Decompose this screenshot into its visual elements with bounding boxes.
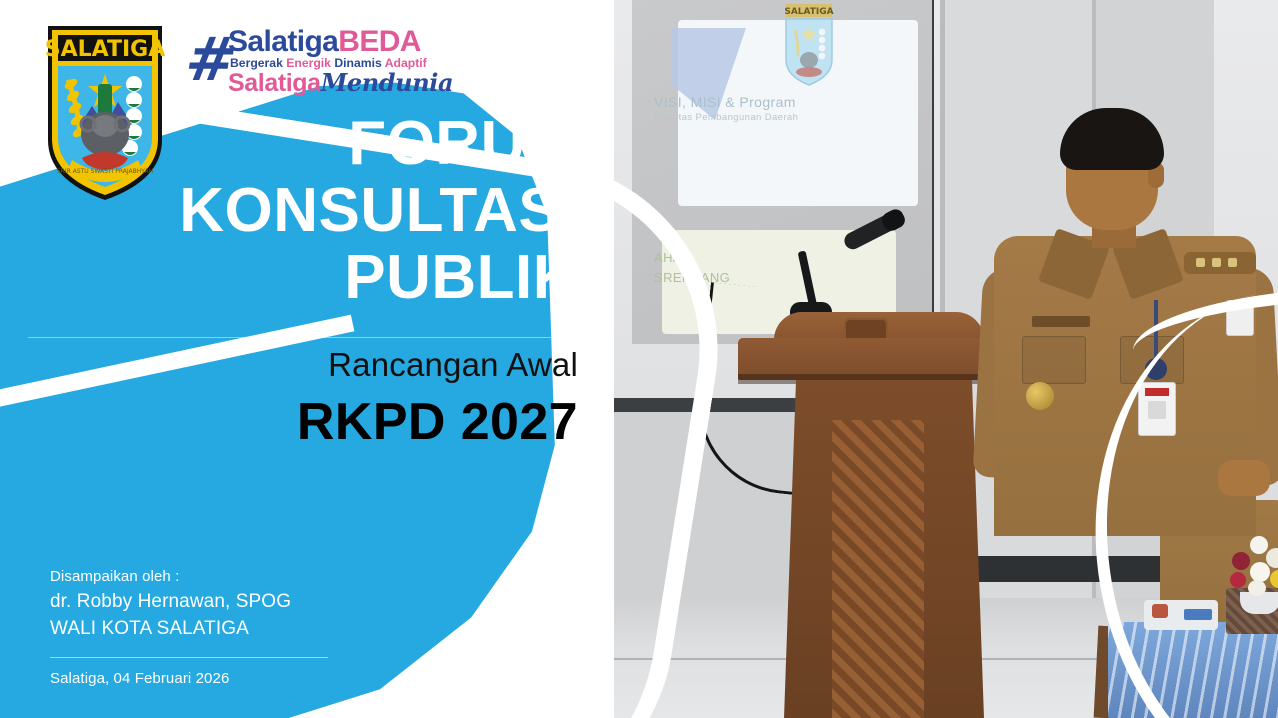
slide-canvas: SALATIGA VISI, MISI & Program Prioritas … bbox=[0, 0, 1278, 718]
title-line-2: KONSULTASI bbox=[0, 179, 578, 246]
tagline-word-1: Bergerak bbox=[230, 56, 283, 70]
beda-wordmark: SalatigaBEDA bbox=[228, 27, 421, 57]
uniform-pocket-left bbox=[1022, 336, 1086, 384]
footer-divider bbox=[50, 657, 328, 658]
presenter-name: dr. Robby Hernawan, SPOG bbox=[50, 588, 390, 616]
presenter-title: WALI KOTA SALATIGA bbox=[50, 615, 390, 643]
slide-heading: VISI, MISI & Program bbox=[654, 94, 796, 110]
title-divider bbox=[28, 337, 578, 338]
subtitle: Rancangan Awal bbox=[0, 346, 578, 384]
beda-wordmark-left: Salatiga bbox=[228, 25, 338, 58]
footer-block: Disampaikan oleh : dr. Robby Hernawan, S… bbox=[50, 566, 390, 687]
podium-carved-panel bbox=[832, 420, 924, 718]
presented-by-label: Disampaikan oleh : bbox=[50, 566, 390, 588]
salatiga-beda-logo: # SalatigaBEDA Bergerak Energik Dinamis … bbox=[186, 24, 396, 96]
page-title: FORUM KONSULTASI PUBLIK bbox=[0, 112, 578, 314]
crest-banner-text: SALATIGA bbox=[45, 37, 165, 62]
slide-subheading: Prioritas Pembangunan Daerah bbox=[654, 112, 798, 123]
uniform-badge bbox=[1026, 382, 1054, 410]
title-line-3: PUBLIK bbox=[0, 246, 578, 313]
slide-crest-icon: SALATIGA bbox=[778, 2, 840, 88]
beda-line3-left: Salatiga bbox=[228, 69, 321, 97]
uniform-nametag bbox=[1032, 316, 1090, 327]
slide-crest-banner-text: SALATIGA bbox=[784, 7, 833, 17]
beda-wordmark-right: BEDA bbox=[338, 25, 421, 58]
beda-line3-right: Mendunia bbox=[321, 68, 453, 97]
title-line-1: FORUM bbox=[0, 112, 578, 179]
place-and-date: Salatiga, 04 Februari 2026 bbox=[50, 670, 390, 687]
headline: RKPD 2027 bbox=[0, 392, 578, 452]
slide-lower-line-1: AHAN bbox=[654, 250, 692, 265]
uniform-epaulet bbox=[1184, 252, 1256, 274]
beda-line3: SalatigaMendunia bbox=[228, 71, 453, 96]
